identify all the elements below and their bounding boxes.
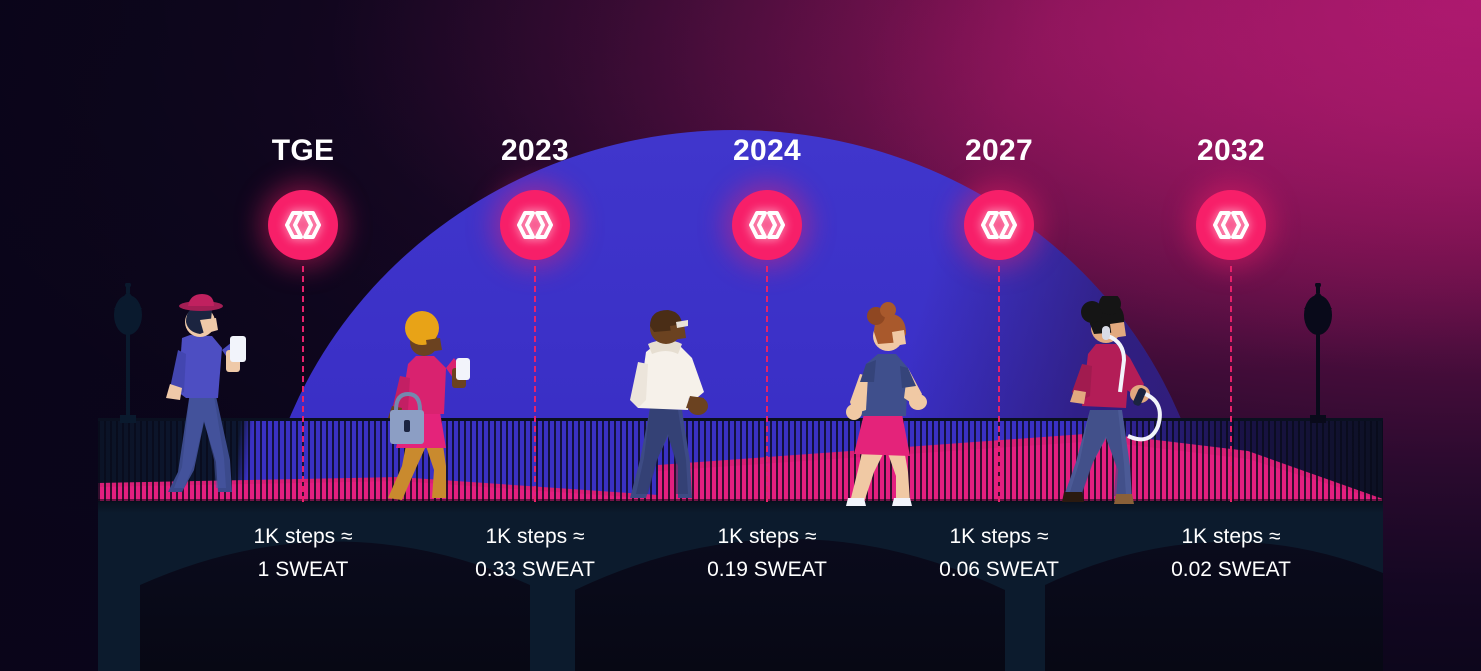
caption-line-2: 1 SWEAT [253, 553, 352, 586]
caption-line-1: 1K steps ≈ [253, 520, 352, 553]
sweat-logo-icon [979, 208, 1019, 242]
caption-line-1: 1K steps ≈ [475, 520, 595, 553]
walker-2-woman-with-bag [382, 306, 492, 506]
street-lamp-left-icon [100, 283, 156, 423]
sweat-badge-2024[interactable] [732, 190, 802, 260]
sweat-logo-icon [747, 208, 787, 242]
milestone-stem-line [302, 266, 304, 502]
sweat-logo-icon [283, 208, 323, 242]
sweat-badge-2027[interactable] [964, 190, 1034, 260]
milestone-stem-line [766, 266, 768, 502]
milestone-caption: 1K steps ≈ 0.19 SWEAT [707, 520, 827, 586]
walker-4-woman-in-skirt [842, 302, 952, 507]
milestone-caption: 1K steps ≈ 0.33 SWEAT [475, 520, 595, 586]
walker-1-man-with-phone [160, 292, 270, 502]
sweat-badge-tge[interactable] [268, 190, 338, 260]
caption-line-2: 0.06 SWEAT [939, 553, 1059, 586]
sweat-badge-2023[interactable] [500, 190, 570, 260]
milestone-caption: 1K steps ≈ 1 SWEAT [253, 520, 352, 586]
caption-line-2: 0.33 SWEAT [475, 553, 595, 586]
milestone-year-label: 2023 [501, 134, 569, 168]
milestone-stem-line [1230, 266, 1232, 502]
caption-line-1: 1K steps ≈ [1171, 520, 1291, 553]
bridge-railing [98, 421, 1383, 501]
walker-3-man-in-hoodie [620, 300, 730, 505]
sweat-logo-icon [1211, 208, 1251, 242]
milestone-year-label: 2027 [965, 134, 1033, 168]
caption-line-2: 0.02 SWEAT [1171, 553, 1291, 586]
caption-line-2: 0.19 SWEAT [707, 553, 827, 586]
walker-5-person-with-jumprope [1062, 296, 1182, 511]
railing-pickets [98, 421, 1383, 501]
milestone-year-label: 2024 [733, 134, 801, 168]
caption-line-1: 1K steps ≈ [707, 520, 827, 553]
milestone-year-label: 2032 [1197, 134, 1265, 168]
street-lamp-right-icon [1290, 283, 1346, 423]
milestone-stem-line [534, 266, 536, 502]
milestone-year-label: TGE [272, 134, 335, 168]
sweat-logo-icon [515, 208, 555, 242]
caption-line-1: 1K steps ≈ [939, 520, 1059, 553]
infographic-canvas: TGE 1K steps ≈ 1 SWEAT 2023 [0, 0, 1481, 671]
milestone-caption: 1K steps ≈ 0.06 SWEAT [939, 520, 1059, 586]
deck-shadow [98, 499, 1383, 513]
milestone-caption: 1K steps ≈ 0.02 SWEAT [1171, 520, 1291, 586]
sweat-badge-2032[interactable] [1196, 190, 1266, 260]
milestone-stem-line [998, 266, 1000, 502]
